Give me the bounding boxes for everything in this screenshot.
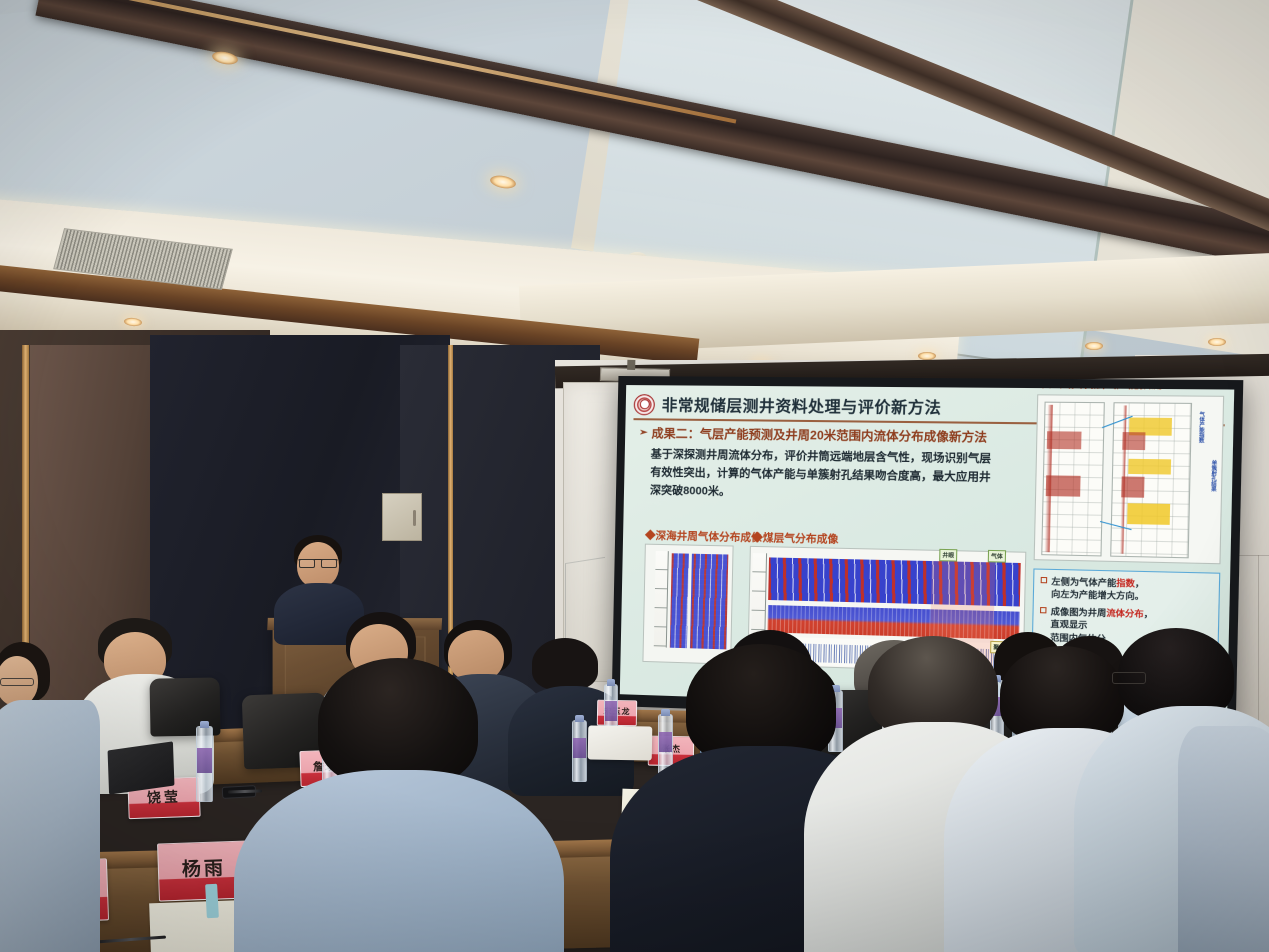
figure-tag-gas: 气体 bbox=[988, 550, 1006, 563]
bullet-1-lead: 左侧为气体产能 bbox=[1051, 576, 1116, 588]
bullet-1-tail: ， bbox=[1135, 578, 1145, 589]
conference-room-photo: 非常规储层测井资料处理与评价新方法 ➢ 成果二：气层产能预测及井周20米范围内流… bbox=[0, 0, 1269, 952]
water-bottle bbox=[196, 726, 213, 802]
wall-access-panel bbox=[382, 493, 422, 541]
figure-vlabel-capacity: 气体产能指数 bbox=[1198, 411, 1206, 443]
institution-logo-icon bbox=[634, 394, 655, 415]
slide-body-text: 基于深探测井周流体分布，评价井筒远端地层含气性，现场识别气层有效性突出，计算的气… bbox=[650, 446, 991, 506]
figure-label-deep-sea: ◆深海井周气体分布成像 bbox=[645, 528, 762, 546]
slide-title: 非常规储层测井资料处理与评价新方法 bbox=[662, 393, 942, 418]
bullet-1-highlight: 指数 bbox=[1116, 578, 1135, 589]
glasses-icon bbox=[1112, 672, 1146, 684]
glasses-lens-right bbox=[321, 559, 337, 568]
pen bbox=[228, 789, 262, 793]
audience-member-foreground-left bbox=[0, 700, 100, 952]
person-hair bbox=[318, 658, 478, 786]
figure-depth-axis bbox=[654, 551, 669, 648]
figure-sichuan-prediction: 气体产能指数 单簇射孔结果 bbox=[1034, 394, 1225, 564]
water-bottle bbox=[572, 720, 587, 782]
sticky-tab bbox=[205, 884, 219, 919]
glasses-icon bbox=[0, 678, 34, 686]
downlight-icon bbox=[1208, 338, 1226, 346]
person-torso bbox=[234, 770, 564, 952]
name-plate-text: 杨雨 bbox=[181, 853, 226, 882]
slide-bullet-1: 左侧为气体产能指数， 向左为产能增大方向。 bbox=[1040, 575, 1213, 605]
bullet-arrow-icon: ➢ bbox=[639, 427, 648, 438]
bullet-2-highlight: 流体分布 bbox=[1106, 608, 1144, 619]
figure-label-sichuan: ◆四川页岩层气产能预测 bbox=[1037, 385, 1162, 392]
figure-label-coalbed: ◆煤层气分布成像 bbox=[752, 530, 839, 547]
bullet-square-icon bbox=[1041, 577, 1048, 583]
screen-mount bbox=[627, 360, 635, 370]
bullet-2-tail: ， bbox=[1144, 609, 1154, 620]
name-plate-text: 饶莹 bbox=[147, 787, 182, 808]
figure-log-track-left bbox=[1041, 402, 1105, 557]
figure-log-track-right bbox=[1110, 402, 1192, 558]
bullet-square-icon bbox=[1040, 607, 1047, 613]
figure-tag-borehole: 井眼 bbox=[939, 549, 957, 562]
figure-vlabel-perforation: 单簇射孔结果 bbox=[1210, 460, 1218, 492]
bullet-1-line2: 向左为产能增大方向。 bbox=[1051, 589, 1144, 602]
audience-member-foreground-right bbox=[1178, 726, 1269, 952]
audience-member-foreground bbox=[268, 658, 528, 952]
person-hair bbox=[532, 638, 598, 690]
glasses-lens-left bbox=[299, 559, 315, 568]
desk-device bbox=[588, 725, 653, 760]
downlight-icon bbox=[1085, 342, 1103, 350]
laptop[interactable] bbox=[108, 741, 175, 794]
slide-subtitle-text: 成果二：气层产能预测及井周20米范围内流体分布成像新方法 bbox=[651, 424, 987, 445]
bullet-2-lead: 成像图为井周 bbox=[1051, 606, 1107, 618]
bullet-2-line2: 直观显示 bbox=[1050, 619, 1087, 630]
